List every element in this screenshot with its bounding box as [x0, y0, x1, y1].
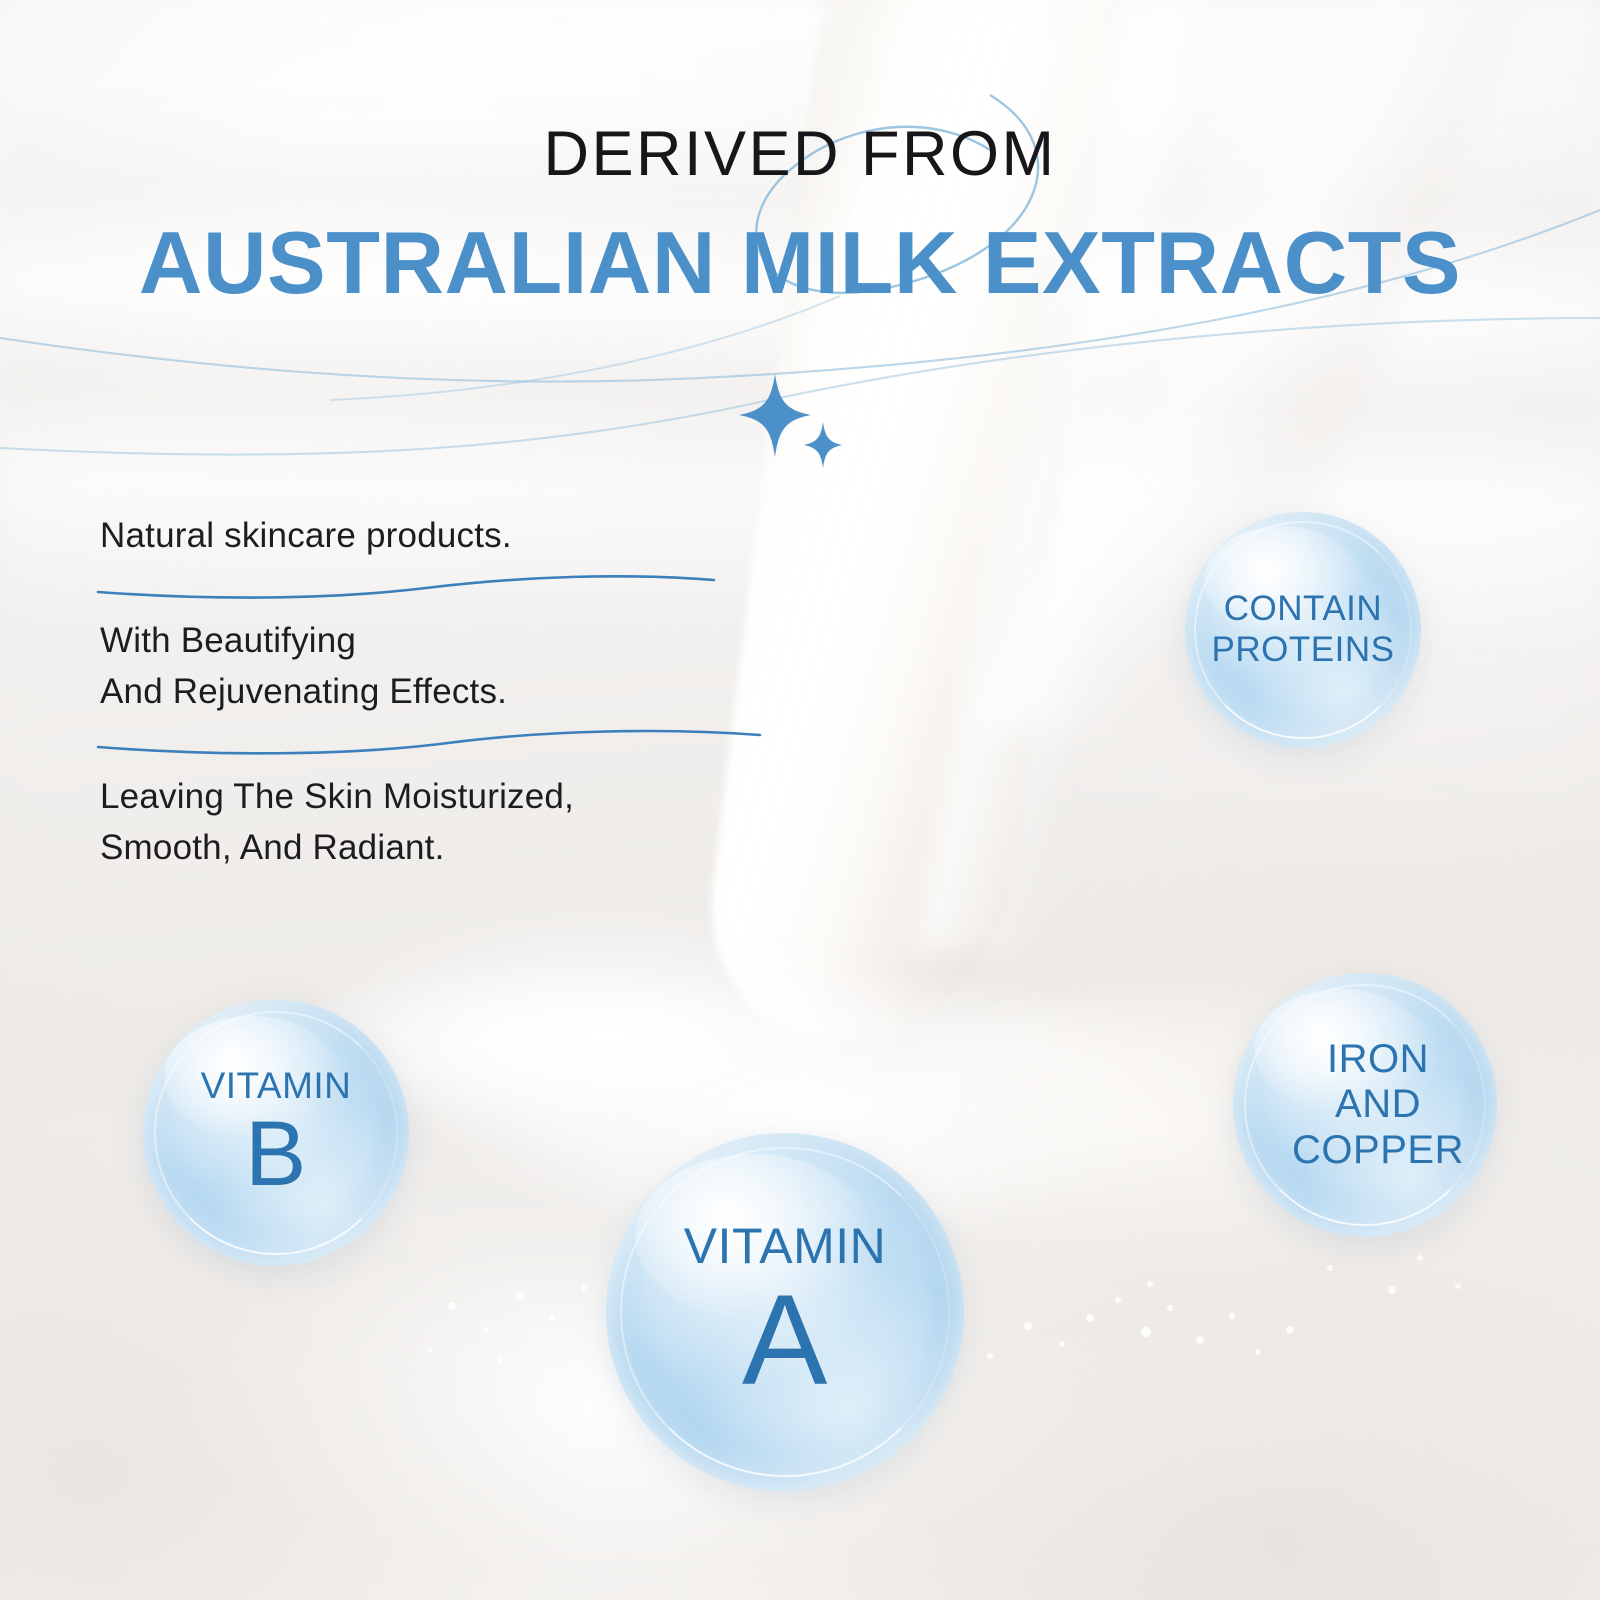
body-line-with-beautifying: With Beautifying: [100, 615, 780, 666]
page-title: AUSTRALIAN MILK EXTRACTS: [0, 212, 1600, 314]
promo-banner: DERIVED FROM AUSTRALIAN MILK EXTRACTS Na…: [0, 0, 1600, 1600]
body-copy: Natural skincare products. With Beautify…: [100, 510, 780, 873]
bubble-label: IRON AND COPPER: [1266, 1037, 1464, 1173]
body-line-leaving-skin: Leaving The Skin Moisturized,: [100, 771, 780, 822]
bubble-vitamin-letter: A: [684, 1277, 887, 1405]
bubble-contain-proteins[interactable]: CONTAIN PROTEINS: [1185, 512, 1421, 748]
bubble-line-3: COPPER: [1292, 1128, 1464, 1172]
bubble-label: VITAMIN B: [201, 1066, 352, 1199]
bubble-label: CONTAIN PROTEINS: [1212, 589, 1395, 670]
bubble-vitamin-b[interactable]: VITAMIN B: [143, 1000, 409, 1266]
wave-divider-2: [100, 717, 780, 771]
bubble-vitamin-a[interactable]: VITAMIN A: [606, 1133, 964, 1491]
wave-divider-1: [100, 561, 780, 615]
bubble-line-1: IRON: [1327, 1037, 1429, 1081]
bubble-line-2: PROTEINS: [1212, 630, 1395, 669]
body-line-natural-skincare: Natural skincare products.: [100, 510, 780, 561]
wave-divider-icon: [96, 723, 762, 757]
bubble-label: VITAMIN A: [684, 1220, 887, 1405]
bubble-line-2: AND: [1335, 1082, 1421, 1126]
bubble-vitamin-word: VITAMIN: [684, 1218, 887, 1274]
wave-divider-icon: [96, 567, 716, 601]
eyebrow-text: DERIVED FROM: [0, 118, 1600, 190]
body-line-smooth-radiant: Smooth, And Radiant.: [100, 822, 780, 873]
bubble-line-1: CONTAIN: [1224, 589, 1382, 628]
body-line-and-rejuvenating: And Rejuvenating Effects.: [100, 666, 780, 717]
bubble-vitamin-letter: B: [201, 1108, 352, 1200]
bubble-iron-and-copper[interactable]: IRON AND COPPER: [1233, 973, 1497, 1237]
sparkle-icon: [735, 372, 855, 472]
bubble-vitamin-word: VITAMIN: [201, 1065, 352, 1106]
